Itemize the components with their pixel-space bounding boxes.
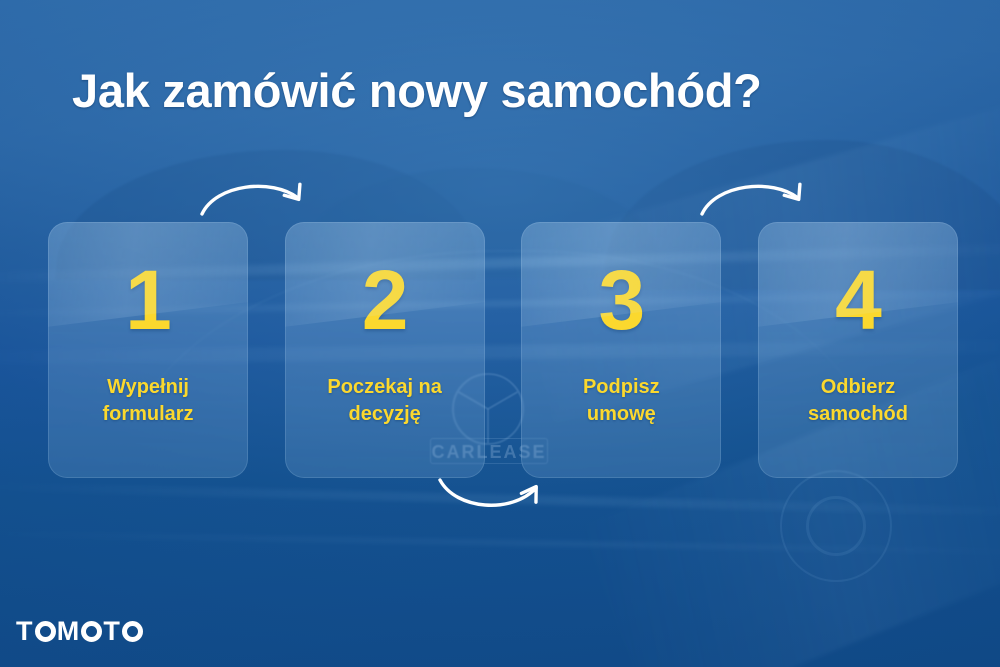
step-number: 1 <box>48 258 248 342</box>
step-label-line: umowę <box>529 401 713 428</box>
step-number: 4 <box>758 258 958 342</box>
step-label-line: decyzję <box>293 401 477 428</box>
step-number: 3 <box>521 258 721 342</box>
page-title: Jak zamówić nowy samochód? <box>72 66 952 117</box>
step-label-line: samochód <box>766 401 950 428</box>
logo-letter-t: T <box>16 616 34 646</box>
step-card-4[interactable]: 4 Odbierz samochód <box>758 222 958 478</box>
step-label-line: Odbierz <box>766 374 950 401</box>
step-label-line: Wypełnij <box>56 374 240 401</box>
infographic-canvas: CARLEASE Jak zamówić nowy samochód? 1 Wy… <box>0 0 1000 667</box>
logo-o-ring-icon <box>122 621 143 642</box>
step-label: Odbierz samochód <box>766 374 950 428</box>
step-card-1[interactable]: 1 Wypełnij formularz <box>48 222 248 478</box>
step-label-line: formularz <box>56 401 240 428</box>
logo-letter-m: M <box>57 616 81 646</box>
logo-o-ring-icon <box>81 621 102 642</box>
step-label: Poczekaj na decyzję <box>293 374 477 428</box>
steps-list: 1 Wypełnij formularz 2 Poczekaj na decyz… <box>48 222 958 478</box>
logo-letter-t2: T <box>103 616 121 646</box>
step-label: Podpisz umowę <box>529 374 713 428</box>
step-label-line: Podpisz <box>529 374 713 401</box>
step-label: Wypełnij formularz <box>56 374 240 428</box>
step-card-2[interactable]: 2 Poczekaj na decyzję <box>285 222 485 478</box>
otomoto-logo[interactable]: TMT <box>16 616 144 647</box>
step-label-line: Poczekaj na <box>293 374 477 401</box>
step-card-3[interactable]: 3 Podpisz umowę <box>521 222 721 478</box>
logo-o-ring-icon <box>35 621 56 642</box>
step-number: 2 <box>285 258 485 342</box>
